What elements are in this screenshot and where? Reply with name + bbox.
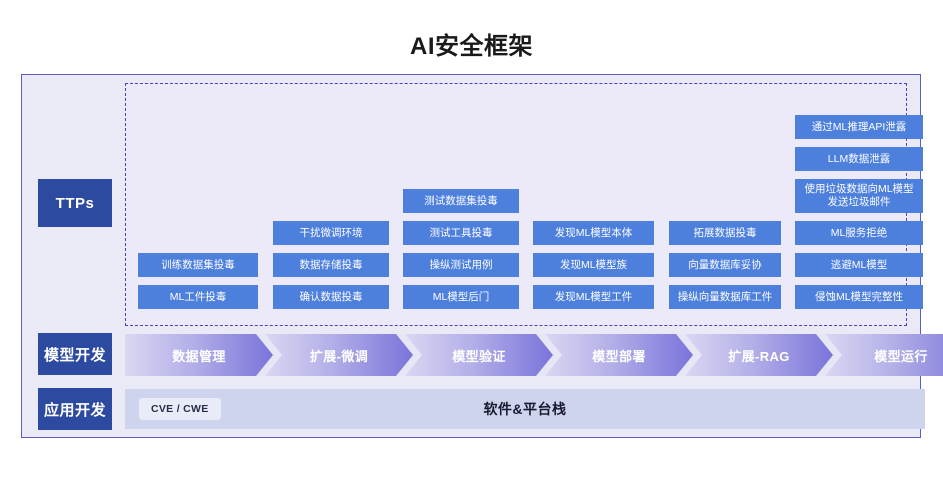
ttp-box[interactable]: 逃避ML模型 [795,253,923,277]
ttp-box[interactable]: 发现ML模型本体 [533,221,654,245]
ttp-columns-container: 训练数据集投毒 ML工件投毒 干扰微调环境 数据存储投毒 确认数据投毒 测试数据… [134,84,900,327]
ttp-box[interactable]: 测试工具投毒 [403,221,519,245]
ttp-box[interactable]: 操纵向量数据库工件 [669,285,781,309]
ttp-box[interactable]: ML工件投毒 [138,285,258,309]
ttp-box[interactable]: 测试数据集投毒 [403,189,519,213]
ttp-box[interactable]: 训练数据集投毒 [138,253,258,277]
ttp-box[interactable]: 侵蚀ML模型完整性 [795,285,923,309]
ttp-box[interactable]: 拓展数据投毒 [669,221,781,245]
page-title: AI安全框架 [0,26,943,61]
pipeline-stage-extend-rag[interactable]: 扩展-RAG [685,334,833,376]
row-label-ttps: TTPs [38,179,112,227]
row-label-application-development: 应用开发 [38,388,112,430]
platform-stack-label: 软件&平台栈 [125,399,925,419]
pipeline-stage-model-deployment[interactable]: 模型部署 [545,334,693,376]
ttp-box[interactable]: 干扰微调环境 [273,221,389,245]
ttp-column-model-validation: 测试数据集投毒 测试工具投毒 操纵测试用例 ML模型后门 [403,189,519,309]
ttp-box[interactable]: 操纵测试用例 [403,253,519,277]
ttp-box[interactable]: 发现ML模型工件 [533,285,654,309]
ttp-column-extend-rag: 拓展数据投毒 向量数据库妥协 操纵向量数据库工件 [669,221,781,309]
ttp-box[interactable]: LLM数据泄露 [795,147,923,171]
pipeline-stage-data-management[interactable]: 数据管理 [125,334,273,376]
ttp-box[interactable]: 数据存储投毒 [273,253,389,277]
pipeline-stage-model-validation[interactable]: 模型验证 [405,334,553,376]
cve-cwe-chip[interactable]: CVE / CWE [139,398,221,420]
pipeline-stage-model-runtime[interactable]: 模型运行 [825,334,943,376]
ttp-column-model-deployment: 发现ML模型本体 发现ML模型族 发现ML模型工件 [533,221,654,309]
ttp-box[interactable]: 向量数据库妥协 [669,253,781,277]
ttp-column-data-management: 训练数据集投毒 ML工件投毒 [138,253,258,309]
ttp-box[interactable]: ML模型后门 [403,285,519,309]
ttp-column-extend-finetune: 干扰微调环境 数据存储投毒 确认数据投毒 [273,221,389,309]
ttp-dashed-region: 训练数据集投毒 ML工件投毒 干扰微调环境 数据存储投毒 确认数据投毒 测试数据… [125,83,907,326]
ttp-box[interactable]: 发现ML模型族 [533,253,654,277]
ttp-box[interactable]: 使用垃圾数据向ML模型发送垃圾邮件 [795,179,923,213]
pipeline-row: 数据管理 扩展-微调 模型验证 模型部署 扩展-RAG 模型运行 [125,334,925,376]
framework-panel: 训练数据集投毒 ML工件投毒 干扰微调环境 数据存储投毒 确认数据投毒 测试数据… [21,74,921,438]
application-row: CVE / CWE 软件&平台栈 [125,389,925,429]
ttp-box[interactable]: 确认数据投毒 [273,285,389,309]
row-label-model-development: 模型开发 [38,333,112,375]
ttp-box[interactable]: ML服务拒绝 [795,221,923,245]
ttp-box[interactable]: 通过ML推理API泄露 [795,115,923,139]
pipeline-stage-extend-finetune[interactable]: 扩展-微调 [265,334,413,376]
ttp-column-model-runtime: 通过ML推理API泄露 LLM数据泄露 使用垃圾数据向ML模型发送垃圾邮件 ML… [795,115,923,309]
